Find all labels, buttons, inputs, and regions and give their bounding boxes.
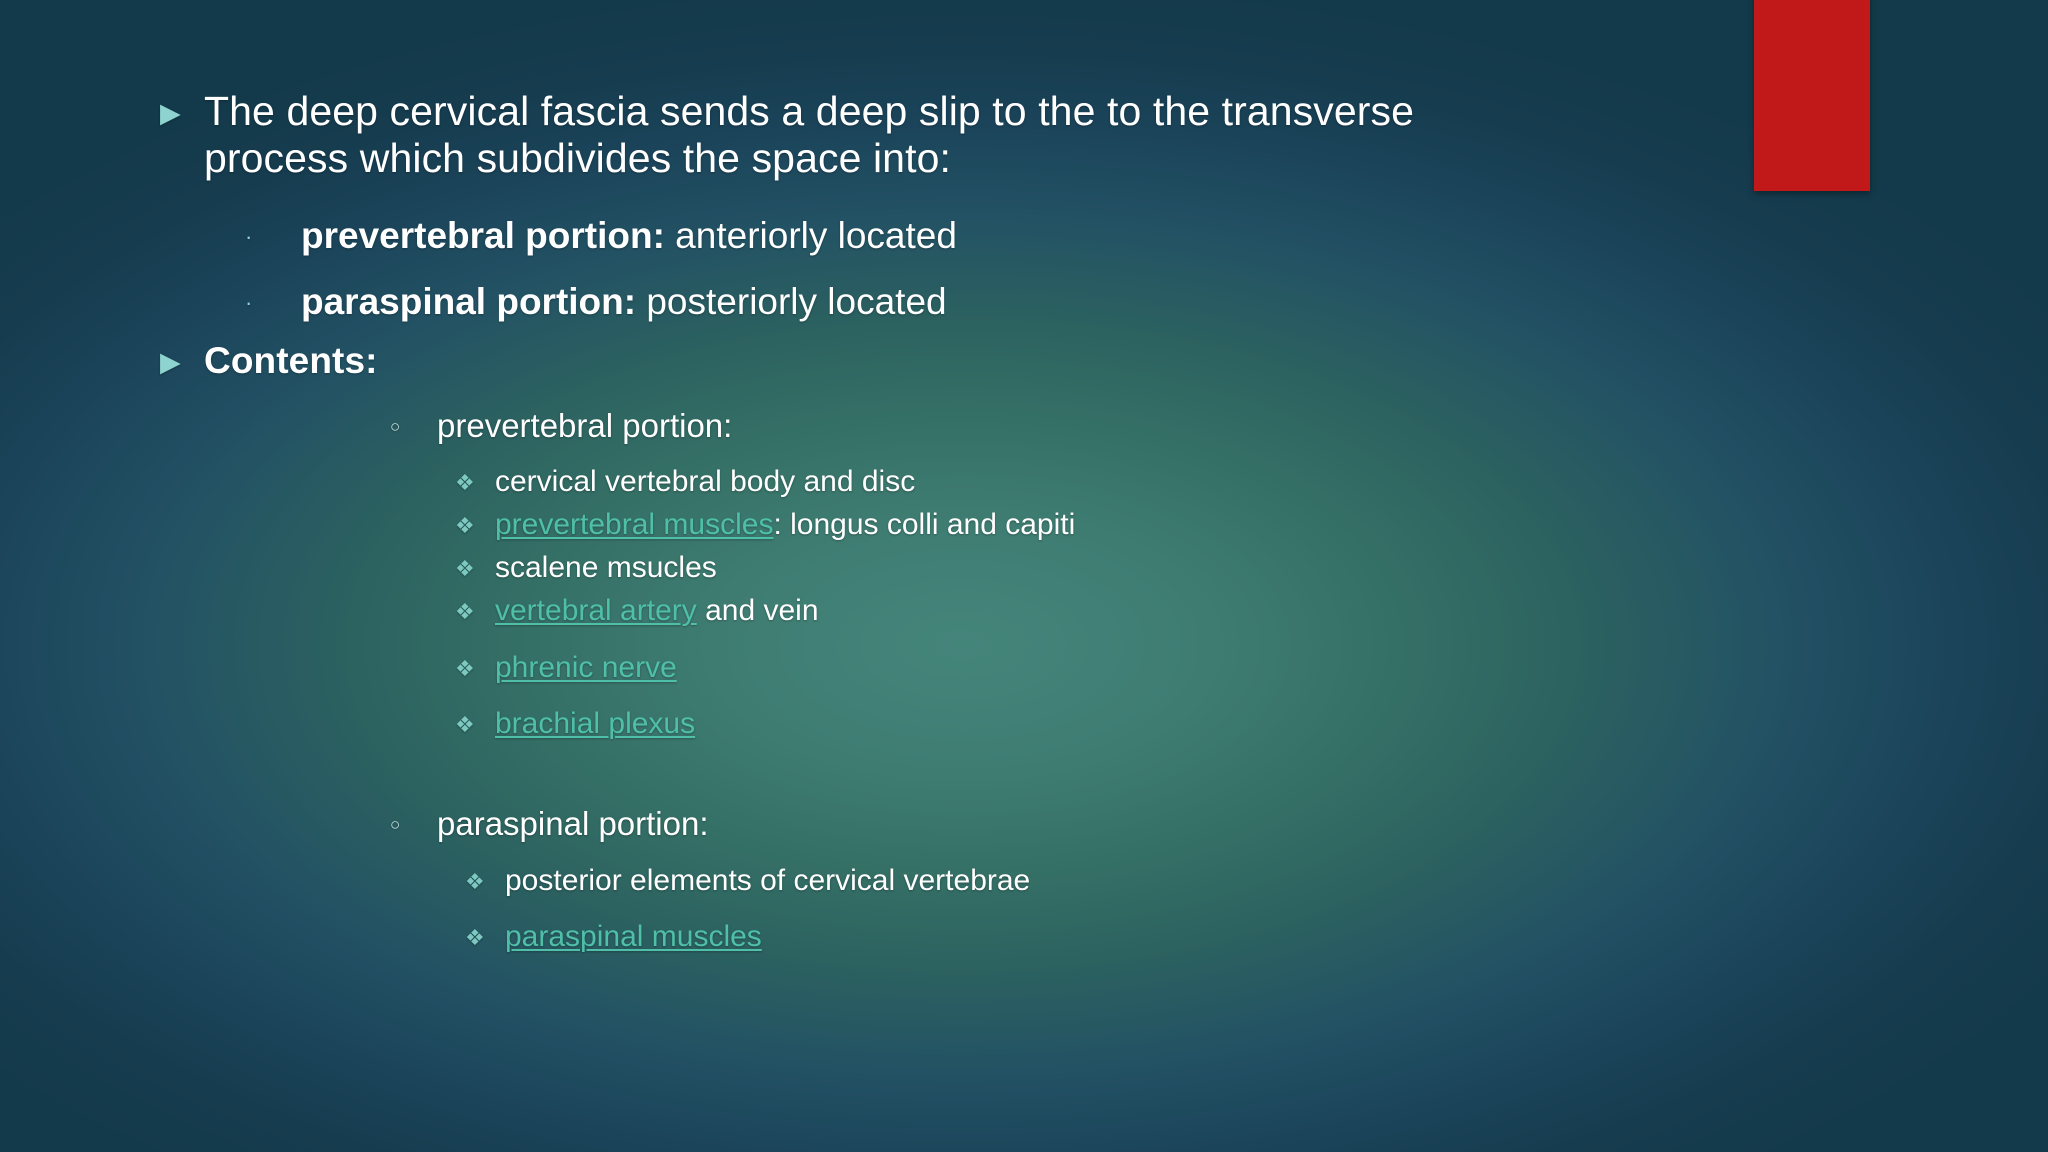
list-item-prevertebral-muscles: ❖ prevertebral muscles: longus colli and… [455,507,1075,544]
paraspinal-portion-value: posteriorly located [636,281,947,322]
intro-line-2: process which subdivides the space into: [204,135,951,181]
link-brachial-plexus[interactable]: brachial plexus [495,707,695,740]
contents-heading: Contents: [204,337,378,384]
diamond-bullet-icon: ❖ [455,593,495,630]
list-item-brachial-plexus: ❖ brachial plexus [455,706,695,743]
slide-canvas: ▶ The deep cervical fascia sends a deep … [0,0,2048,1152]
list-item-suffix: and vein [697,594,819,627]
list-item-label: posterior elements of cervical vertebrae [505,863,1030,899]
list-item-label: phrenic nerve [495,650,677,686]
diamond-bullet-icon: ❖ [465,919,505,956]
link-phrenic-nerve[interactable]: phrenic nerve [495,651,677,684]
list-item-label: vertebral artery and vein [495,593,819,629]
list-item-cervical-body: ❖ cervical vertebral body and disc [455,464,915,501]
diamond-bullet-icon: ❖ [455,650,495,687]
circle-bullet-icon: ○ [390,804,437,846]
dot-bullet-icon: · [245,280,301,326]
list-item-label: paraspinal muscles [505,919,762,955]
prevertebral-portion-value: anteriorly located [665,215,957,256]
bullet-paraspinal-portion: · paraspinal portion: posteriorly locate… [245,280,947,326]
diamond-bullet-icon: ❖ [455,550,495,587]
list-item-vertebral-artery: ❖ vertebral artery and vein [455,593,819,630]
bullet-intro: ▶ The deep cervical fascia sends a deep … [156,88,1414,182]
list-item-label: scalene msucles [495,550,717,586]
paraspinal-portion-label: paraspinal portion: [301,281,636,322]
list-item-suffix: : longus colli and capiti [773,508,1075,541]
list-item-phrenic-nerve: ❖ phrenic nerve [455,650,677,687]
circle-bullet-icon: ○ [390,406,437,448]
list-item-paraspinal-muscles: ❖ paraspinal muscles [465,919,762,956]
link-prevertebral-muscles[interactable]: prevertebral muscles [495,508,773,541]
link-vertebral-artery[interactable]: vertebral artery [495,594,697,627]
diamond-bullet-icon: ❖ [455,464,495,501]
diamond-bullet-icon: ❖ [465,863,505,900]
dot-bullet-icon: · [245,214,301,260]
triangle-bullet-icon: ▶ [156,337,204,387]
triangle-bullet-icon: ▶ [156,88,204,138]
diamond-bullet-icon: ❖ [455,507,495,544]
intro-line-1: The deep cervical fascia sends a deep sl… [204,88,1414,134]
list-item-label: brachial plexus [495,706,695,742]
prevertebral-portion-label: prevertebral portion: [301,215,665,256]
bullet-prevertebral-portion: · prevertebral portion: anteriorly locat… [245,214,957,260]
bullet-prevertebral-portion-group: ○ prevertebral portion: [390,406,732,448]
paraspinal-portion-group-label: paraspinal portion: [437,804,709,843]
bullet-contents: ▶ Contents: [156,337,378,387]
list-item-label: cervical vertebral body and disc [495,464,915,500]
link-paraspinal-muscles[interactable]: paraspinal muscles [505,920,762,953]
prevertebral-portion-group-label: prevertebral portion: [437,406,732,445]
bullet-paraspinal-portion-group: ○ paraspinal portion: [390,804,709,846]
diamond-bullet-icon: ❖ [455,706,495,743]
prevertebral-portion-text: prevertebral portion: anteriorly located [301,214,957,258]
slide-content: ▶ The deep cervical fascia sends a deep … [0,0,2048,1152]
list-item-label: prevertebral muscles: longus colli and c… [495,507,1075,543]
list-item-posterior-elements: ❖ posterior elements of cervical vertebr… [465,863,1030,900]
bullet-intro-text: The deep cervical fascia sends a deep sl… [204,88,1414,182]
list-item-scalene-muscles: ❖ scalene msucles [455,550,717,587]
paraspinal-portion-text: paraspinal portion: posteriorly located [301,280,947,324]
